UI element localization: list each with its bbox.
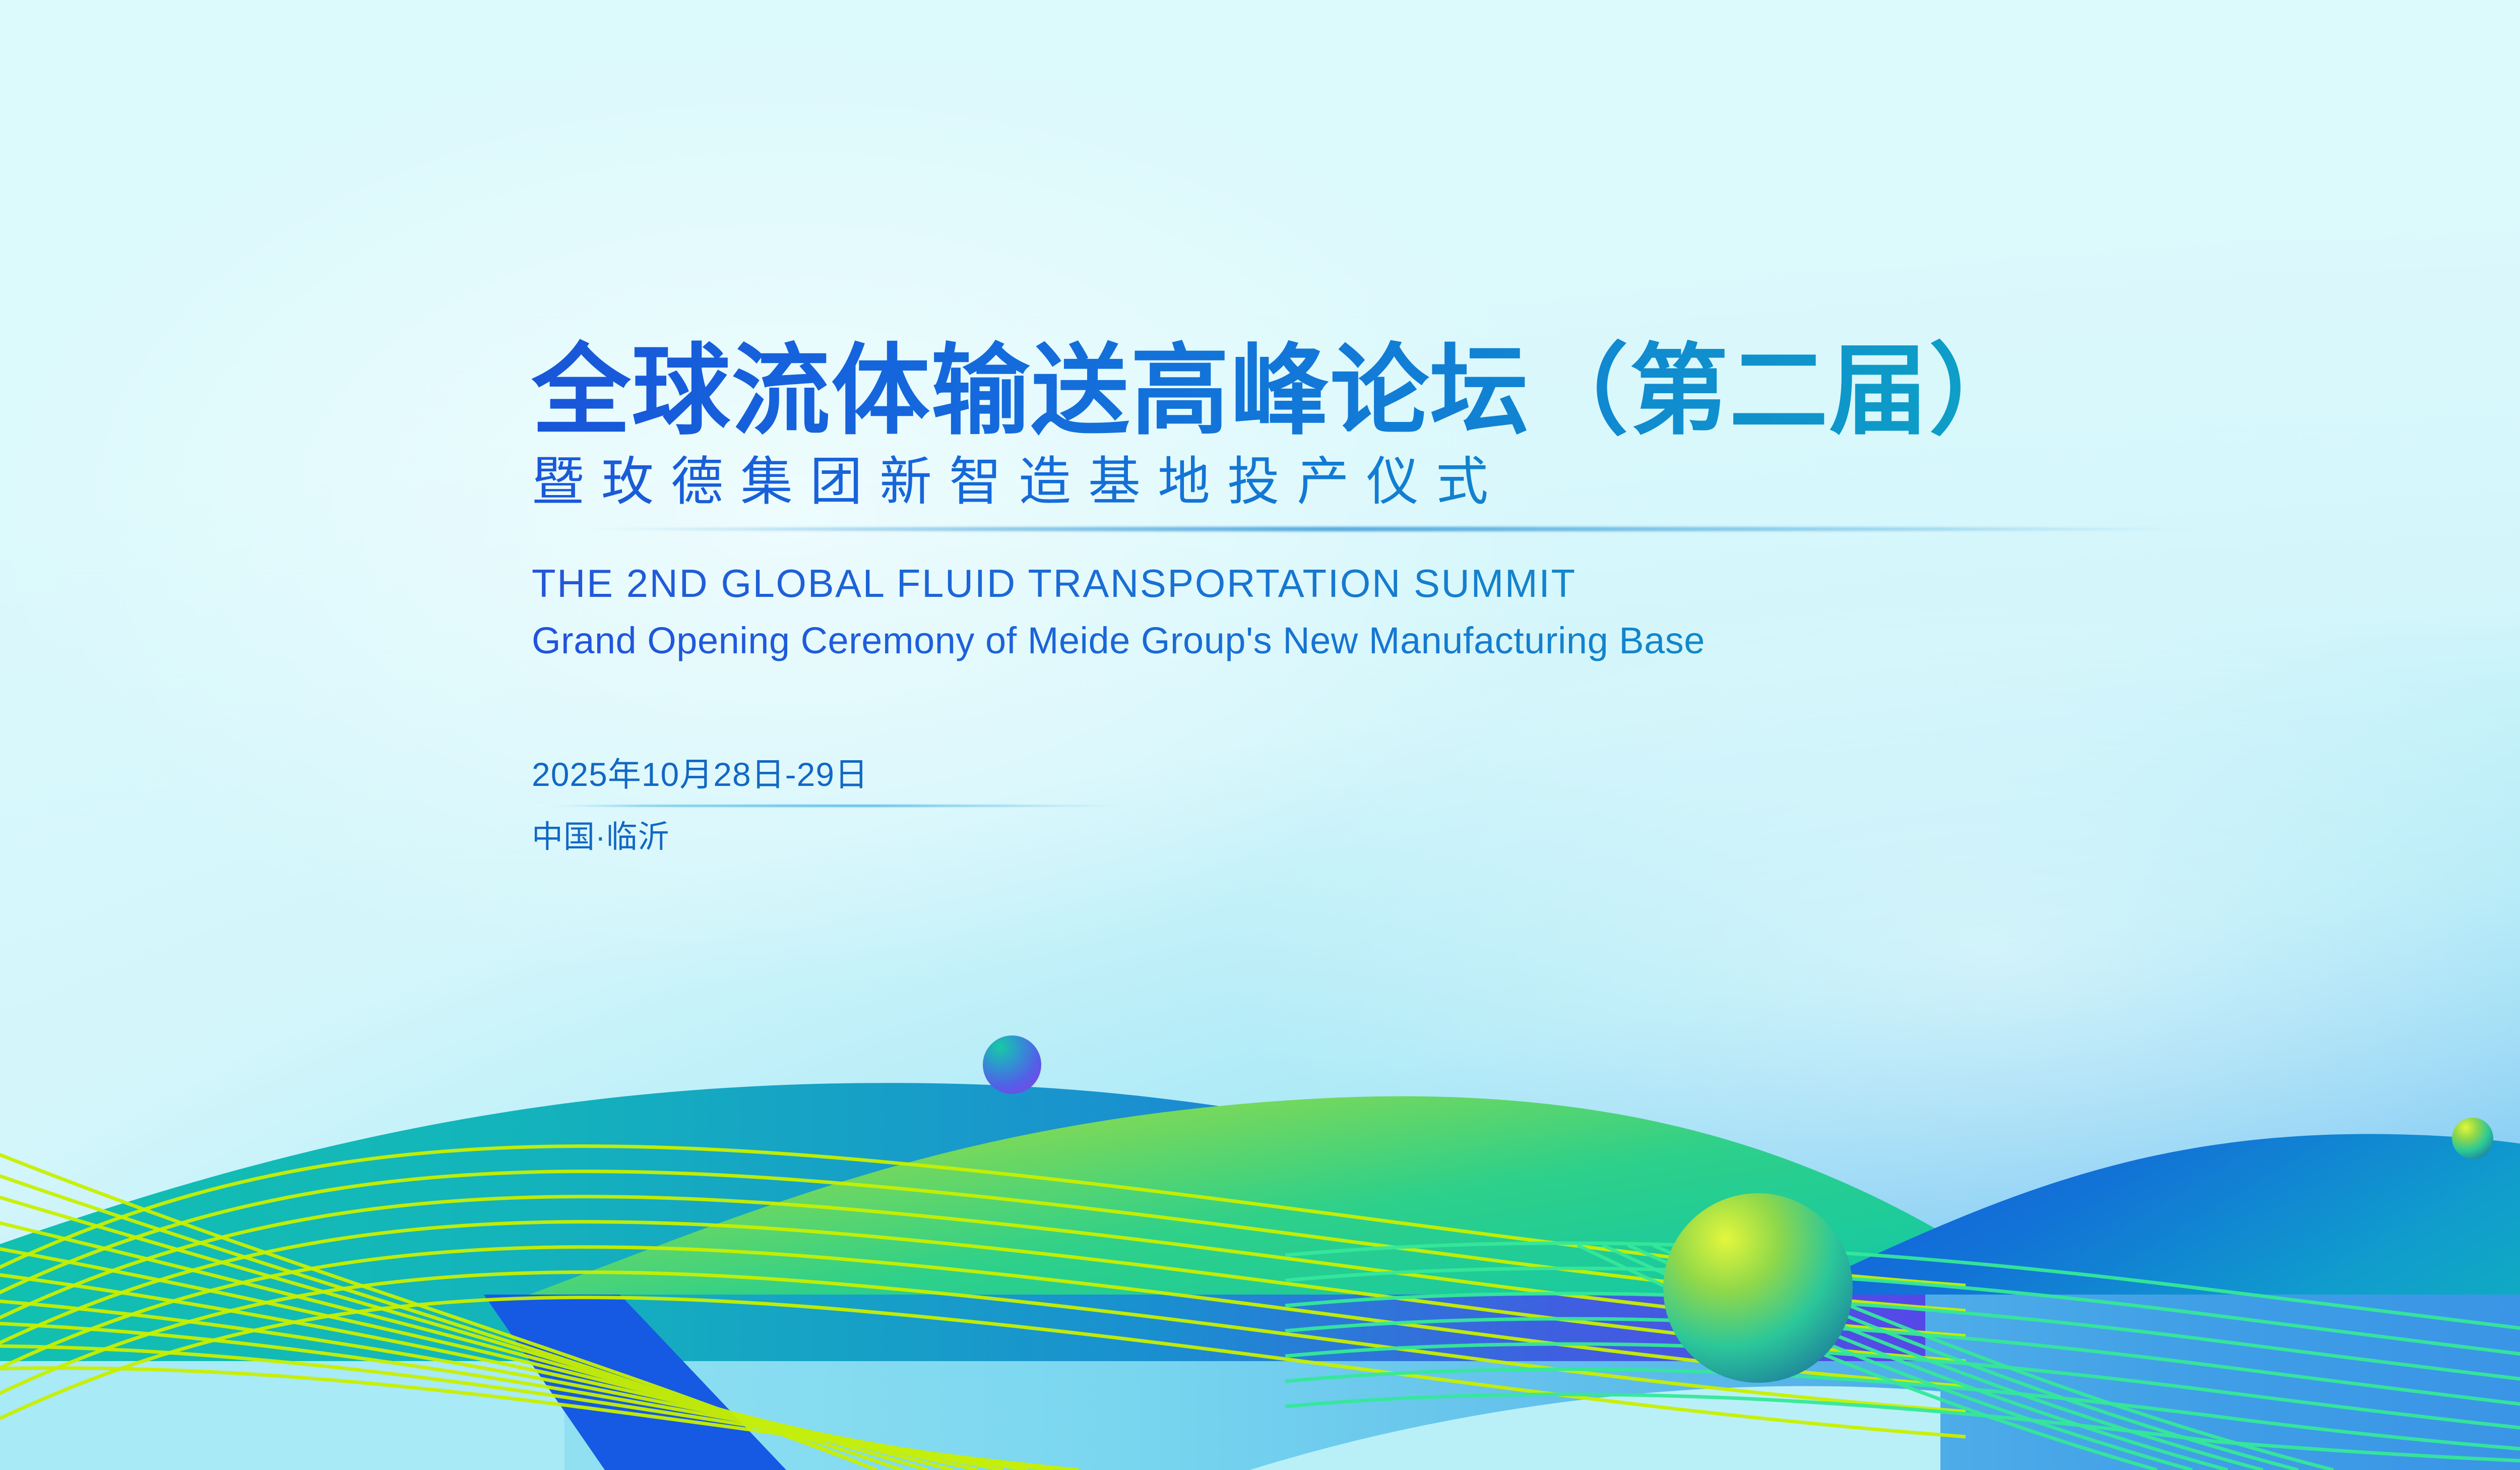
sphere-large-green-center — [1663, 1193, 1853, 1383]
sphere-small-green-mid — [2452, 1118, 2493, 1159]
event-banner: 全球流体输送高峰论坛（第二届） 暨玫德集团新智造基地投产仪式 THE 2ND G… — [0, 0, 2520, 1470]
meta-divider — [532, 805, 1149, 807]
page-title: 全球流体输送高峰论坛（第二届） — [532, 339, 2520, 444]
english-subtitle: Grand Opening Ceremony of Meide Group's … — [532, 619, 2520, 662]
event-meta: 2025年10月28日-29日 中国·临沂 — [532, 756, 1162, 855]
title-divider — [575, 527, 2202, 531]
english-title: THE 2ND GLOBAL FLUID TRANSPORTATION SUMM… — [532, 561, 2520, 606]
headline-block: 全球流体输送高峰论坛（第二届） 暨玫德集团新智造基地投产仪式 THE 2ND G… — [532, 339, 2520, 855]
sphere-small-violet-left — [983, 1035, 1041, 1094]
event-date: 2025年10月28日-29日 — [532, 756, 1162, 793]
event-location: 中国·临沂 — [532, 820, 1162, 854]
page-subtitle: 暨玫德集团新智造基地投产仪式 — [532, 451, 2520, 514]
